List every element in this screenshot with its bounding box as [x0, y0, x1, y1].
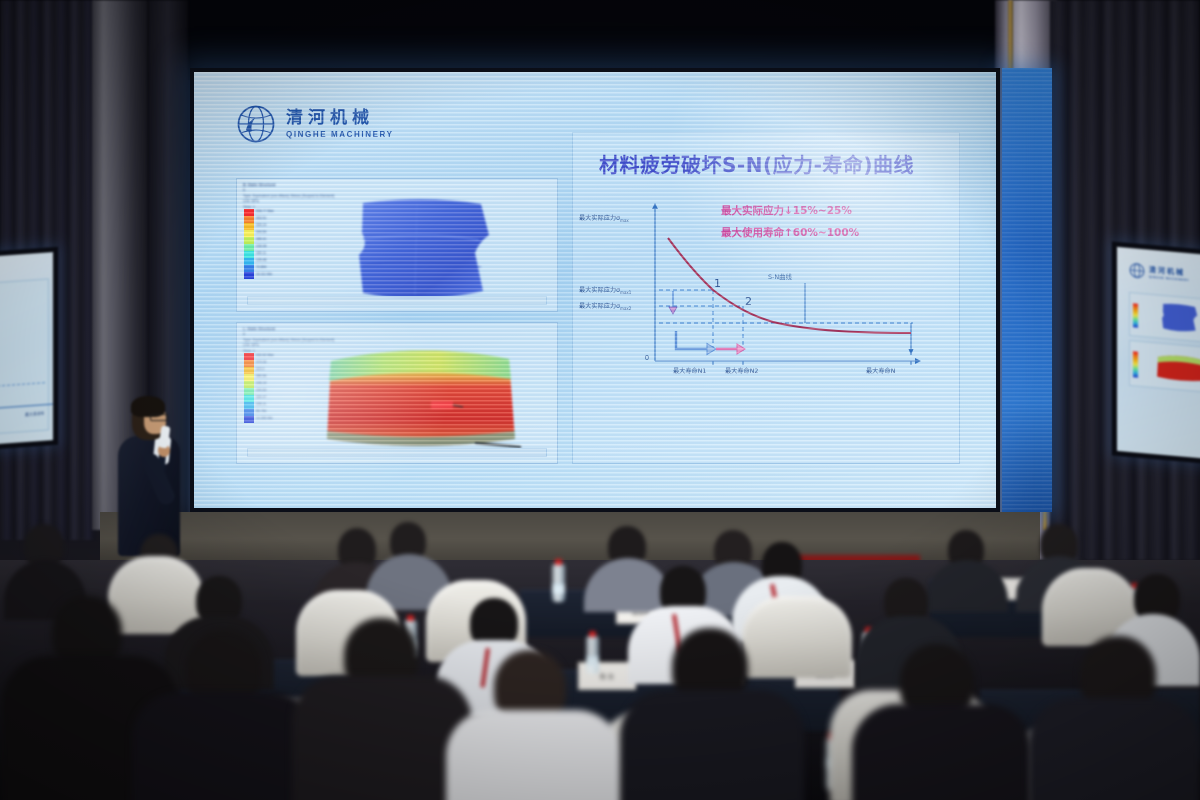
legend-swatch — [244, 237, 254, 244]
logo-text-cn: 清河机械 — [286, 110, 394, 127]
legend-swatch — [244, 258, 254, 265]
legend-swatch — [244, 244, 254, 251]
presenter-glasses — [150, 414, 168, 421]
legend-value: 344.54 — [256, 229, 274, 236]
legend-swatch — [244, 223, 254, 230]
globe-icon-mini — [1129, 262, 1145, 279]
legend-swatch — [244, 251, 254, 258]
legend-swatch — [244, 209, 254, 216]
led-panel-right-strip — [1002, 68, 1052, 512]
legend-value: 125.48 — [256, 257, 274, 264]
legend-swatch — [244, 265, 254, 272]
conference-scene: 清河机械 QINGHE MACHINERY B: Static Structur… — [0, 0, 1200, 800]
svg-text:最大寿命N: 最大寿命N — [25, 410, 44, 417]
chair-cover — [742, 596, 852, 678]
monitor-right-screen: 清河机械 QINGHE MACHINERY — [1117, 247, 1200, 459]
legend-value: 70.894 — [256, 264, 274, 271]
monitor-right: 清河机械 QINGHE MACHINERY — [1112, 241, 1200, 464]
audience-shoulder — [620, 690, 804, 800]
water-bottle — [552, 564, 565, 602]
globe-icon — [236, 104, 276, 144]
fea-top-header: B: Static Structural E Type: Equivalent … — [243, 183, 334, 210]
legend-swatch — [244, 230, 254, 237]
logo-text-en: QINGHE MACHINERY — [286, 130, 394, 139]
monitor-left-screen: 曲线 最大寿命N — [0, 252, 53, 446]
water-bottle — [586, 636, 599, 674]
audience-shoulder — [132, 692, 318, 800]
legend-value: 399.24 — [256, 222, 274, 229]
audience-shoulder — [1028, 698, 1200, 800]
fea-top-legend-values: 508.77 Max453.91399.24344.54289.41235.08… — [256, 208, 274, 278]
audience-shoulder — [852, 704, 1032, 800]
legend-value: 235.08 — [256, 243, 274, 250]
legend-value: 289.41 — [256, 236, 274, 243]
company-logo: 清河机械 QINGHE MACHINERY — [236, 104, 394, 144]
screen-glare-lower — [194, 273, 451, 508]
legend-value: 180.11 — [256, 250, 274, 257]
audience-shoulder — [446, 710, 622, 800]
led-screen: 清河机械 QINGHE MACHINERY B: Static Structur… — [190, 68, 1000, 512]
monitor-left: 曲线 最大寿命N — [0, 247, 58, 451]
fea-top-colorbar — [244, 209, 254, 279]
screen-surface: 清河机械 QINGHE MACHINERY B: Static Structur… — [194, 72, 996, 508]
legend-swatch — [244, 216, 254, 223]
audience-shoulder — [292, 676, 472, 800]
legend-value: 453.91 — [256, 215, 274, 222]
legend-value: 508.77 Max — [256, 208, 274, 215]
